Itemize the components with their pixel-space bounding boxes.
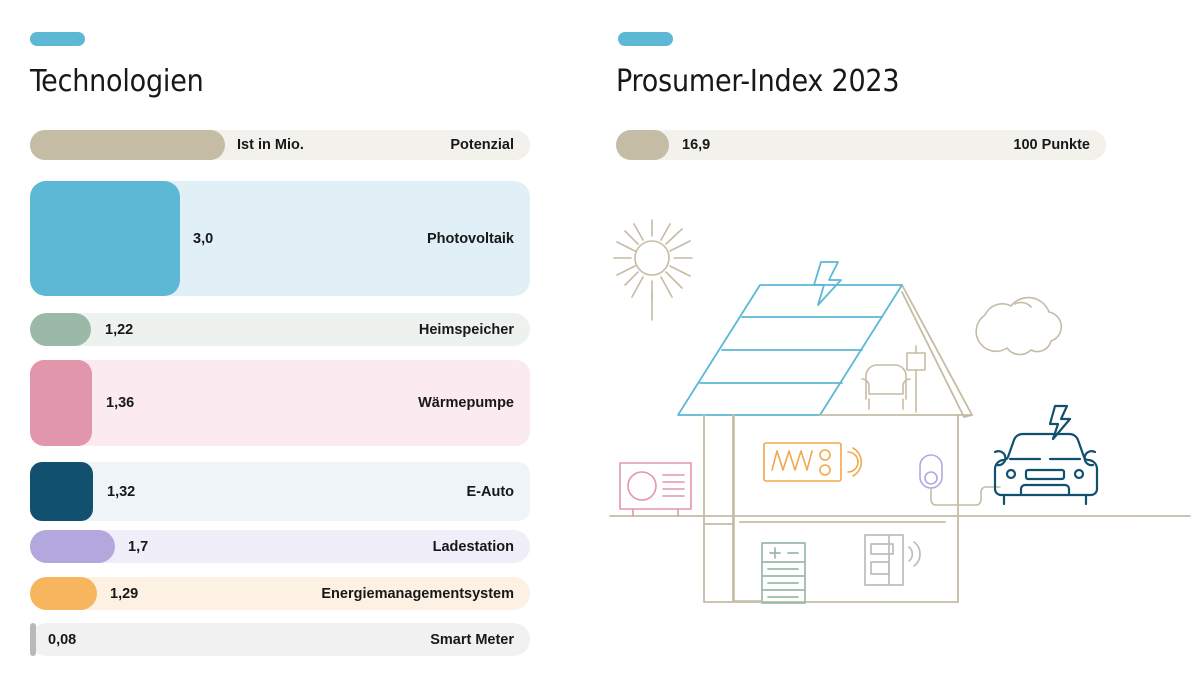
home-battery-icon [762,543,805,603]
energy-management-system-icon [764,443,861,481]
solar-roof [678,285,902,415]
bar-label-ems: Energiemanagementsystem [321,586,514,602]
lightning-bolt-icon [814,262,841,305]
bar-value-e-auto: 1,32 [107,484,135,500]
armchair-icon [862,365,910,409]
sun-icon [614,220,692,320]
prosumer-index-panel: Prosumer-Index 2023 16,9 100 Punkte [600,0,1200,675]
legend-value-label: Ist in Mio. [237,137,304,153]
bar-value-ems: 1,29 [110,586,138,602]
bar-row-ladestation[interactable]: 1,7 Ladestation [30,530,530,563]
bar-value-ladestation: 1,7 [128,539,148,555]
bar-row-photovoltaik[interactable]: 3,0 Photovoltaik [30,181,530,296]
bar-track-e-auto [30,462,530,521]
bar-value-photovoltaik: 3,0 [193,231,213,247]
bar-label-heimspeicher: Heimspeicher [419,322,514,338]
bar-label-e-auto: E-Auto [466,484,514,500]
bar-value-smart-meter: 0,08 [48,632,76,648]
cloud-icon [976,298,1061,355]
legend-row: Ist in Mio. Potenzial [30,130,530,160]
bar-fill-e-auto [30,462,93,521]
charging-cable [931,487,1000,505]
house-roof-outline [902,285,972,417]
page-title-technologien: Technologien [30,64,204,99]
bar-row-waermepumpe[interactable]: 1,36 Wärmepumpe [30,360,530,446]
technologies-panel: Technologien Ist in Mio. Potenzial 3,0 P… [0,0,600,675]
legend-fill [30,130,225,160]
bar-fill-ems [30,577,97,610]
bar-value-heimspeicher: 1,22 [105,322,133,338]
prosumer-house-illustration [600,0,1200,675]
bar-row-e-auto[interactable]: 1,32 E-Auto [30,462,530,521]
bar-fill-waermepumpe [30,360,92,446]
bar-row-energiemanagementsystem[interactable]: 1,29 Energiemanagementsystem [30,577,530,610]
house-walls [610,415,1190,602]
battery-wire [733,415,762,601]
bar-label-ladestation: Ladestation [433,539,514,555]
electric-car-icon [995,406,1097,504]
accent-pill-left [30,32,85,46]
heat-pump-icon [620,463,691,516]
smart-meter-icon [865,535,920,585]
bar-fill-photovoltaik [30,181,180,296]
bar-label-photovoltaik: Photovoltaik [427,231,514,247]
bar-fill-heimspeicher [30,313,91,346]
legend-right-label: Potenzial [450,137,514,153]
bar-fill-smart-meter [30,623,36,656]
bar-row-heimspeicher[interactable]: 1,22 Heimspeicher [30,313,530,346]
wallbox-icon [920,455,942,488]
bar-label-waermepumpe: Wärmepumpe [418,395,514,411]
bar-label-smart-meter: Smart Meter [430,632,514,648]
bar-fill-ladestation [30,530,115,563]
bar-row-smart-meter[interactable]: 0,08 Smart Meter [30,623,530,656]
bar-value-waermepumpe: 1,36 [106,395,134,411]
